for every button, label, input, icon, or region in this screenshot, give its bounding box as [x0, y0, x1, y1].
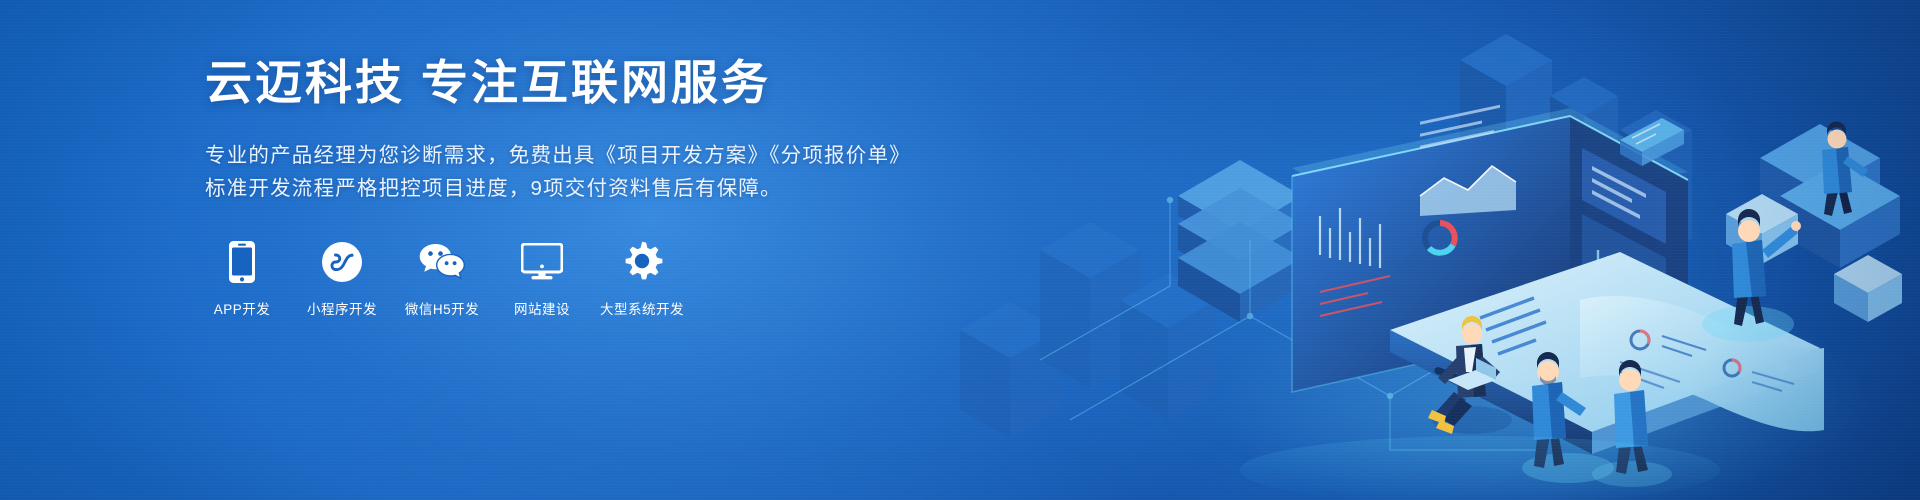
background-buildings [960, 222, 1216, 438]
wechat-icon [419, 239, 465, 285]
gear-icon [619, 239, 665, 285]
mini-program-icon [319, 239, 365, 285]
monitor-icon [519, 239, 565, 285]
feature-label: APP开发 [214, 298, 271, 318]
hero-banner: 云迈科技 专注互联网服务 专业的产品经理为您诊断需求，免费出具《项目开发方案》《… [0, 0, 1920, 500]
subtitle-line-2: 标准开发流程严格把控项目进度，9项交付资料售后有保障。 [205, 172, 965, 205]
illustration [920, 0, 1920, 500]
feature-item-wechat[interactable]: 微信H5开发 [405, 239, 479, 318]
feature-list: APP开发 小程序开发 [205, 239, 965, 318]
banner-copy: 云迈科技 专注互联网服务 专业的产品经理为您诊断需求，免费出具《项目开发方案》《… [205, 58, 965, 318]
feature-label: 大型系统开发 [600, 298, 684, 318]
feature-item-app[interactable]: APP开发 [205, 239, 279, 318]
feature-label: 小程序开发 [307, 298, 377, 318]
feature-label: 网站建设 [514, 298, 570, 318]
feature-item-system[interactable]: 大型系统开发 [605, 239, 679, 318]
feature-item-website[interactable]: 网站建设 [505, 239, 579, 318]
feature-item-mini-program[interactable]: 小程序开发 [305, 239, 379, 318]
subtitle-line-1: 专业的产品经理为您诊断需求，免费出具《项目开发方案》《分项报价单》 [205, 139, 965, 172]
page-title: 云迈科技 专注互联网服务 [205, 58, 965, 109]
feature-label: 微信H5开发 [405, 298, 479, 318]
mobile-phone-icon [219, 239, 265, 285]
